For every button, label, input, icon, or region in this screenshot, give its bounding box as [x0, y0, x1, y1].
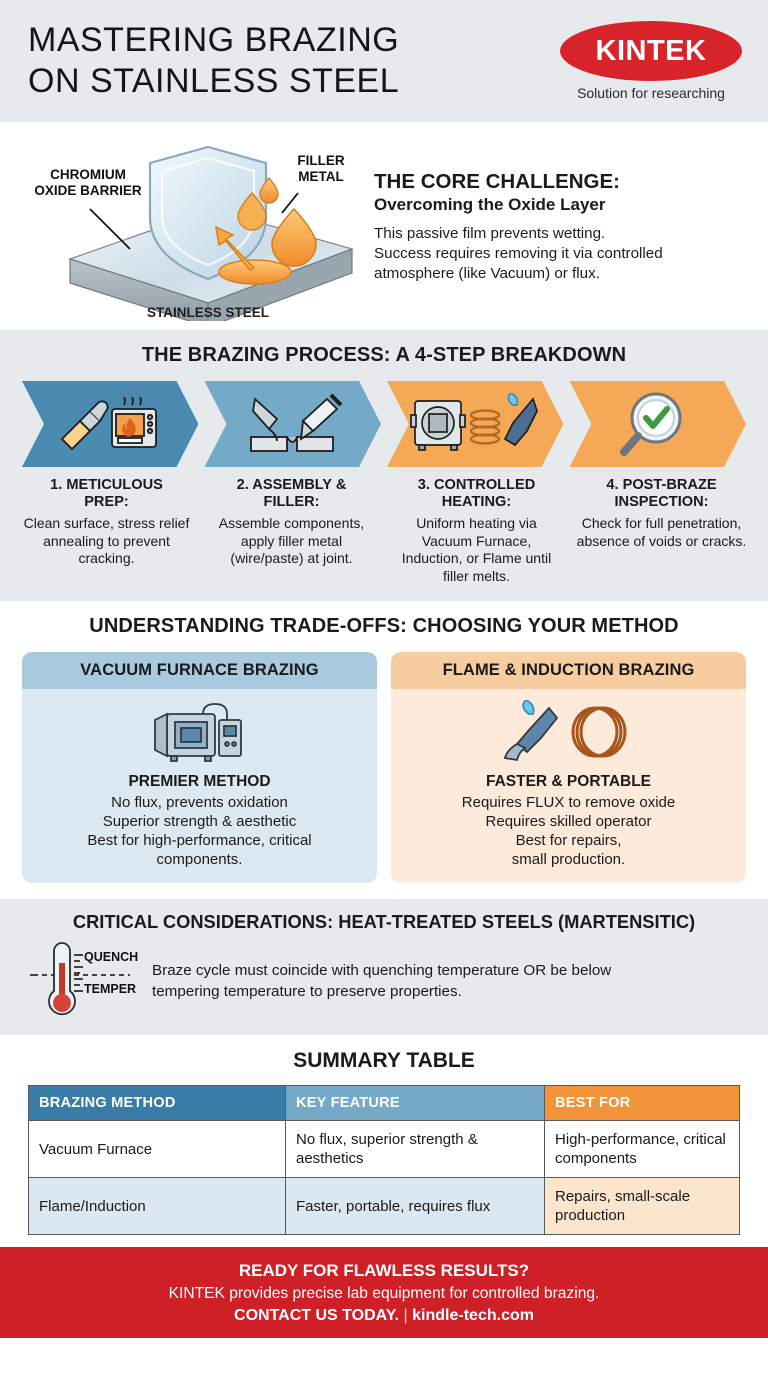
- vacuum-furnace-icon: [32, 697, 367, 769]
- process-arrow-row: [0, 381, 768, 467]
- process-step-3-heading-line2: HEATING:: [442, 494, 511, 510]
- process-step-1-heading: 1. METICULOUS PREP:: [20, 477, 193, 511]
- hero-body: This passive film prevents wetting. Succ…: [374, 224, 746, 284]
- flame-induction-card-body: FASTER & PORTABLE Requires FLUX to remov…: [391, 689, 746, 883]
- thermometer-label-temper: TEMPER: [84, 982, 136, 996]
- hero-copy: THE CORE CHALLENGE: Overcoming the Oxide…: [368, 169, 746, 284]
- oxide-layer-svg: STAINLESS STEEL CHROMIUM OXIDE BARRIER F…: [12, 131, 368, 321]
- filler-applicator-icon: [241, 393, 345, 455]
- brand-tagline: Solution for researching: [577, 85, 725, 101]
- critical-text-line1: Braze cycle must coincide with quenching…: [152, 962, 611, 979]
- process-section-title: THE BRAZING PROCESS: A 4-STEP BREAKDOWN: [0, 344, 768, 367]
- magnifier-check-icon: [616, 390, 700, 458]
- table-cell-feature-1: No flux, superior strength & aesthetics: [286, 1121, 545, 1178]
- hero-heading-secondary: Overcoming the Oxide Layer: [374, 194, 746, 216]
- cta-headline: READY FOR FLAWLESS RESULTS?: [239, 1261, 529, 1281]
- process-step-3-text: 3. CONTROLLED HEATING: Uniform heating v…: [384, 477, 569, 585]
- thermometer-label-quench: QUENCH: [84, 950, 138, 964]
- table-header-brazing-method: BRAZING METHOD: [29, 1086, 286, 1121]
- page-title-line2: ON STAINLESS STEEL: [28, 62, 399, 100]
- torch-and-coil-icon: [401, 697, 736, 769]
- flame-induction-card-line-3: Best for repairs,: [401, 831, 736, 850]
- flame-induction-card-line-4: small production.: [401, 850, 736, 869]
- process-step-4-heading: 4. POST-BRAZE INSPECTION:: [575, 477, 748, 511]
- cta-footer: READY FOR FLAWLESS RESULTS? KINTEK provi…: [0, 1247, 768, 1338]
- process-step-2-text: 2. ASSEMBLY & FILLER: Assemble component…: [199, 477, 384, 585]
- tradeoffs-section: UNDERSTANDING TRADE-OFFS: CHOOSING YOUR …: [0, 601, 768, 899]
- cta-contact-row[interactable]: CONTACT US TODAY. | kindle-tech.com: [234, 1307, 534, 1325]
- vacuum-furnace-card-header: VACUUM FURNACE BRAZING: [22, 652, 377, 689]
- thermometer-icon: QUENCH TEMPER: [26, 941, 142, 1021]
- flame-induction-card-line-1: Requires FLUX to remove oxide: [401, 793, 736, 812]
- table-header-key-feature: KEY FEATURE: [286, 1086, 545, 1121]
- vacuum-furnace-card-line-1: No flux, prevents oxidation: [32, 793, 367, 812]
- table-cell-method-1: Vacuum Furnace: [29, 1121, 286, 1178]
- critical-row: QUENCH TEMPER Braze cycle must coincide …: [0, 941, 768, 1021]
- page-header: MASTERING BRAZING ON STAINLESS STEEL KIN…: [0, 0, 768, 122]
- hero-body-line2: Success requires removing it via control…: [374, 245, 663, 262]
- process-step-4-body: Check for full penetration, absence of v…: [575, 515, 748, 550]
- diagram-label-oxide-line1: CHROMIUM: [50, 167, 126, 182]
- diagram-label-oxide-line2: OXIDE BARRIER: [34, 183, 142, 198]
- vacuum-furnace-card-line-4: components.: [32, 850, 367, 869]
- process-step-1-heading-line1: 1. METICULOUS: [50, 477, 163, 493]
- cta-separator: |: [404, 1307, 408, 1324]
- summary-table: BRAZING METHOD KEY FEATURE BEST FOR Vacu…: [28, 1085, 740, 1235]
- summary-table-title: SUMMARY TABLE: [0, 1049, 768, 1073]
- process-step-1-text: 1. METICULOUS PREP: Clean surface, stres…: [14, 477, 199, 585]
- process-step-2-body: Assemble components, apply filler metal …: [205, 515, 378, 568]
- hero-body-line3: atmosphere (like Vacuum) or flux.: [374, 265, 600, 282]
- brand-logo: KINTEK Solution for researching: [560, 21, 742, 101]
- process-step-4-chevron[interactable]: [570, 381, 747, 467]
- diagram-label-base: STAINLESS STEEL: [147, 305, 269, 320]
- vacuum-furnace-card-body: PREMIER METHOD No flux, prevents oxidati…: [22, 689, 377, 883]
- process-step-4-heading-line1: 4. POST-BRAZE: [606, 477, 716, 493]
- process-step-4-text: 4. POST-BRAZE INSPECTION: Check for full…: [569, 477, 754, 585]
- process-step-text-row: 1. METICULOUS PREP: Clean surface, stres…: [0, 467, 768, 585]
- critical-section-title: CRITICAL CONSIDERATIONS: HEAT-TREATED ST…: [0, 911, 768, 933]
- page-title: MASTERING BRAZING ON STAINLESS STEEL: [28, 20, 399, 102]
- furnace-coil-torch-icon: [409, 393, 541, 455]
- process-step-2-chevron[interactable]: [205, 381, 382, 467]
- process-step-1-body: Clean surface, stress relief annealing t…: [20, 515, 193, 568]
- hero-body-line1: This passive film prevents wetting.: [374, 225, 605, 242]
- table-cell-method-2: Flame/Induction: [29, 1178, 286, 1235]
- critical-text-line2: tempering temperature to preserve proper…: [152, 983, 462, 1000]
- critical-section: CRITICAL CONSIDERATIONS: HEAT-TREATED ST…: [0, 899, 768, 1035]
- page-title-line1: MASTERING BRAZING: [28, 21, 399, 59]
- vacuum-furnace-card-line-2: Superior strength & aesthetic: [32, 812, 367, 831]
- flame-induction-card[interactable]: FLAME & INDUCTION BRAZING: [391, 652, 746, 883]
- cta-subtext: KINTEK provides precise lab equipment fo…: [169, 1285, 600, 1303]
- summary-section: SUMMARY TABLE BRAZING METHOD KEY FEATURE…: [0, 1035, 768, 1247]
- cta-contact-label: CONTACT US TODAY.: [234, 1307, 399, 1324]
- process-step-1-chevron[interactable]: [22, 381, 199, 467]
- tradeoffs-cards: VACUUM FURNACE BRAZING: [0, 652, 768, 883]
- process-step-1-heading-line2: PREP:: [84, 494, 129, 510]
- table-cell-bestfor-1: High-performance, critical components: [545, 1121, 740, 1178]
- process-section: THE BRAZING PROCESS: A 4-STEP BREAKDOWN: [0, 330, 768, 601]
- process-step-3-heading: 3. CONTROLLED HEATING:: [390, 477, 563, 511]
- infographic-page: MASTERING BRAZING ON STAINLESS STEEL KIN…: [0, 0, 768, 1376]
- process-step-3-body: Uniform heating via Vacuum Furnace, Indu…: [390, 515, 563, 585]
- table-row: Vacuum Furnace No flux, superior strengt…: [29, 1121, 740, 1178]
- process-step-3-chevron[interactable]: [387, 381, 564, 467]
- critical-text: Braze cycle must coincide with quenching…: [152, 960, 611, 1002]
- table-header-best-for: BEST FOR: [545, 1086, 740, 1121]
- diagram-label-filler-line2: METAL: [298, 169, 344, 184]
- vacuum-furnace-card-line-3: Best for high-performance, critical: [32, 831, 367, 850]
- vacuum-furnace-card-subhead: PREMIER METHOD: [32, 773, 367, 791]
- vacuum-furnace-card[interactable]: VACUUM FURNACE BRAZING: [22, 652, 377, 883]
- table-cell-feature-2: Faster, portable, requires flux: [286, 1178, 545, 1235]
- diagram-label-filler-line1: FILLER: [297, 153, 344, 168]
- process-step-2-heading: 2. ASSEMBLY & FILLER:: [205, 477, 378, 511]
- table-cell-bestfor-2: Repairs, small-scale production: [545, 1178, 740, 1235]
- flame-induction-card-line-2: Requires skilled operator: [401, 812, 736, 831]
- process-step-3-heading-line1: 3. CONTROLLED: [418, 477, 536, 493]
- table-row: Flame/Induction Faster, portable, requir…: [29, 1178, 740, 1235]
- cta-website-link[interactable]: kindle-tech.com: [412, 1307, 534, 1324]
- hero-heading-primary: THE CORE CHALLENGE:: [374, 169, 746, 194]
- flame-induction-card-subhead: FASTER & PORTABLE: [401, 773, 736, 791]
- logo-text: KINTEK: [596, 35, 707, 68]
- logo-oval-shape: KINTEK: [560, 21, 742, 81]
- process-step-4-heading-line2: INSPECTION:: [614, 494, 708, 510]
- oxide-layer-diagram: STAINLESS STEEL CHROMIUM OXIDE BARRIER F…: [12, 131, 368, 321]
- process-step-2-heading-line2: FILLER:: [264, 494, 320, 510]
- hero-section: STAINLESS STEEL CHROMIUM OXIDE BARRIER F…: [0, 122, 768, 330]
- table-header-row: BRAZING METHOD KEY FEATURE BEST FOR: [29, 1086, 740, 1121]
- tradeoffs-section-title: UNDERSTANDING TRADE-OFFS: CHOOSING YOUR …: [0, 615, 768, 638]
- process-step-2-heading-line1: 2. ASSEMBLY &: [237, 477, 347, 493]
- brush-and-furnace-icon: [56, 393, 164, 455]
- flame-induction-card-header: FLAME & INDUCTION BRAZING: [391, 652, 746, 689]
